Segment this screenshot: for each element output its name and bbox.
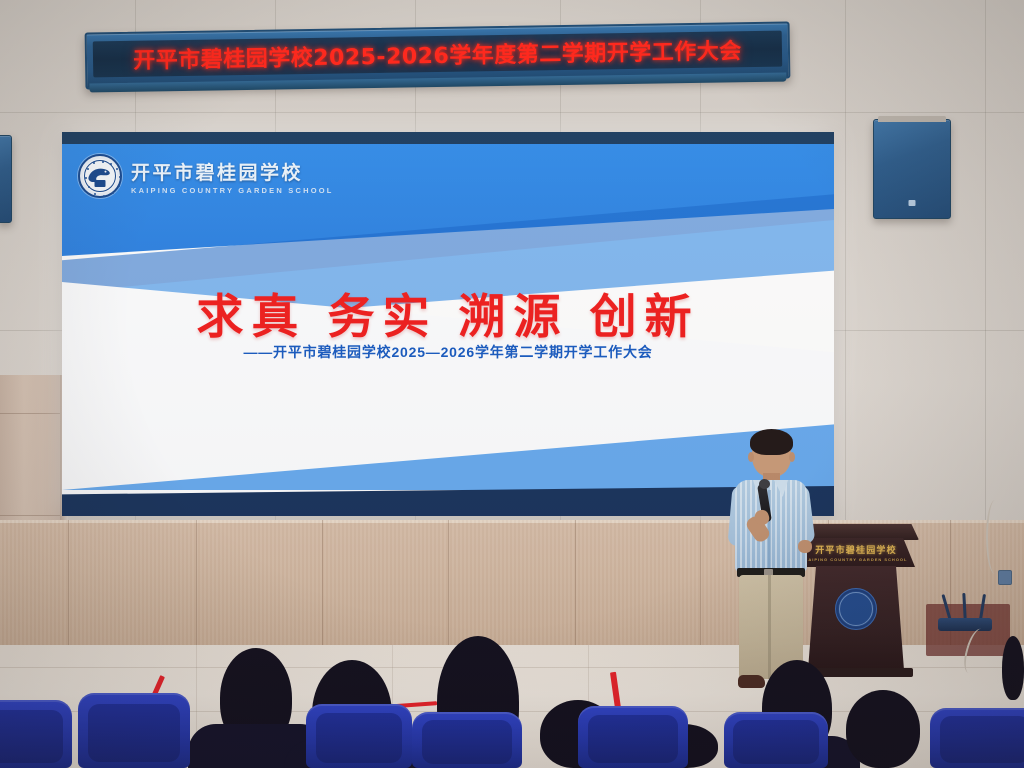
auditorium-scene: 开平市碧桂园学校2025-2026学年度第二学期开学工作大会 bbox=[0, 0, 1024, 768]
slide-subtitle: ——开平市碧桂园学校2025—2026学年第二学期开学工作大会 bbox=[62, 342, 834, 362]
speaker-indicator-icon bbox=[909, 200, 916, 206]
auditorium-chair bbox=[930, 708, 1024, 768]
wall-speaker-left bbox=[0, 135, 12, 223]
podium-body bbox=[806, 566, 906, 670]
auditorium-chair bbox=[412, 712, 522, 768]
seal-base-mark bbox=[95, 180, 106, 187]
speaker-mount-bracket bbox=[878, 116, 946, 122]
school-name-en: KAIPING COUNTRY GARDEN SCHOOL bbox=[131, 186, 334, 195]
led-banner: 开平市碧桂园学校2025-2026学年度第二学期开学工作大会 bbox=[85, 21, 791, 89]
school-logo-lockup: 开平市碧桂园学校 KAIPING COUNTRY GARDEN SCHOOL bbox=[78, 154, 334, 198]
power-cable bbox=[986, 500, 1004, 574]
led-banner-text: 开平市碧桂园学校2025-2026学年度第二学期开学工作大会 bbox=[133, 33, 742, 75]
audience-head bbox=[1002, 636, 1024, 700]
wall-speaker-right bbox=[873, 119, 951, 219]
presenter-hand bbox=[798, 540, 812, 553]
led-banner-screen: 开平市碧桂园学校2025-2026学年度第二学期开学工作大会 bbox=[93, 31, 782, 78]
projection-screen: 开平市碧桂园学校 KAIPING COUNTRY GARDEN SCHOOL 求… bbox=[62, 132, 834, 516]
wireless-router bbox=[938, 618, 992, 631]
audience-head bbox=[846, 690, 920, 768]
wall-outlet bbox=[998, 570, 1012, 585]
auditorium-chair bbox=[724, 712, 828, 768]
podium-nameplate-cn: 开平市碧桂园学校 bbox=[815, 543, 897, 556]
podium-nameplate-en: KAIPING COUNTRY GARDEN SCHOOL bbox=[804, 557, 907, 562]
slide-title: 求真 务实 溯源 创新 bbox=[62, 278, 834, 347]
auditorium-chair bbox=[0, 700, 72, 768]
podium-school-emblem-icon bbox=[835, 588, 877, 630]
auditorium-chair bbox=[306, 704, 412, 768]
school-seal-icon bbox=[78, 154, 122, 198]
presenter-ear bbox=[789, 452, 795, 462]
school-name-cn: 开平市碧桂园学校 bbox=[131, 158, 334, 185]
led-banner-frame: 开平市碧桂园学校2025-2026学年度第二学期开学工作大会 bbox=[85, 21, 791, 89]
presenter-ear bbox=[748, 452, 754, 462]
presenter-hair bbox=[750, 429, 793, 455]
microphone-head-icon bbox=[759, 479, 770, 489]
presenter-shoe bbox=[738, 675, 765, 688]
auditorium-chair bbox=[78, 693, 190, 768]
presenter bbox=[722, 432, 818, 694]
auditorium-chair bbox=[578, 706, 688, 768]
